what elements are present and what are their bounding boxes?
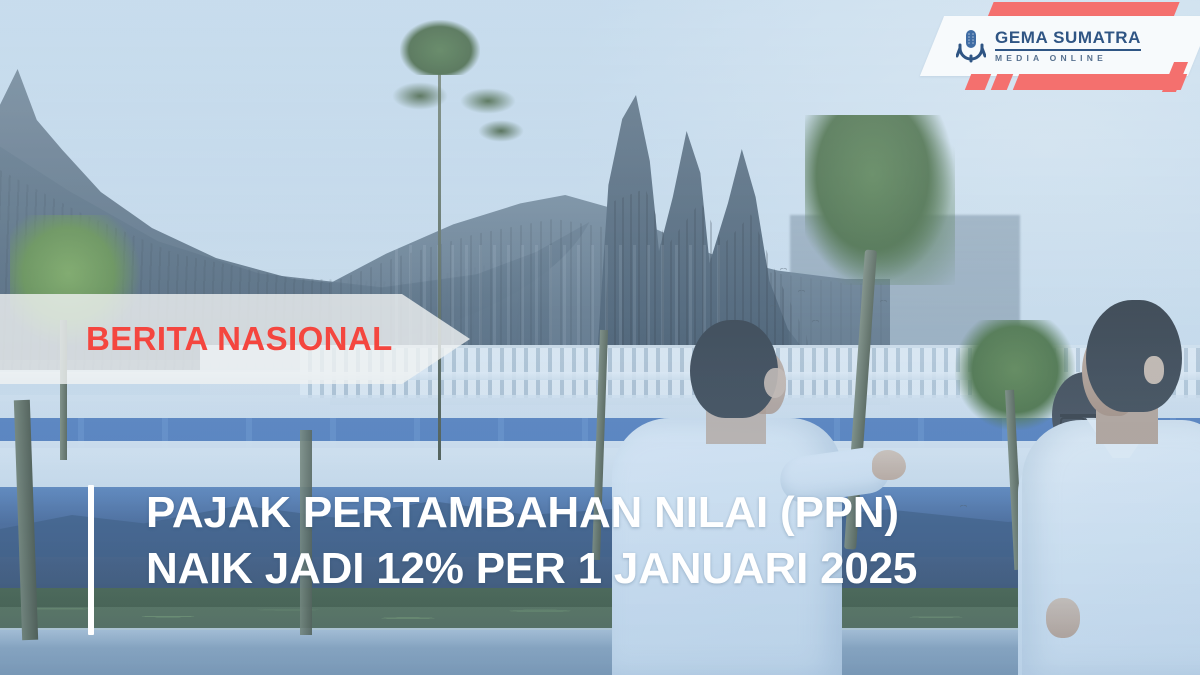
news-thumbnail-card: BERITA NASIONAL PAJAK PERTAMBAHAN NILAI … <box>0 0 1200 675</box>
headline-text-group: PAJAK PERTAMBAHAN NILAI (PPN) NAIK JADI … <box>146 485 917 597</box>
headline-block: PAJAK PERTAMBAHAN NILAI (PPN) NAIK JADI … <box>88 485 917 635</box>
logo-badge[interactable]: GEMA SUMATRA MEDIA ONLINE <box>910 0 1200 108</box>
category-banner: BERITA NASIONAL <box>0 294 470 384</box>
logo-red-square-2 <box>991 74 1013 90</box>
logo-red-square-1 <box>965 74 991 90</box>
logo-content: GEMA SUMATRA MEDIA ONLINE <box>956 20 1196 72</box>
logo-divider <box>995 49 1141 51</box>
headline-line-1: PAJAK PERTAMBAHAN NILAI (PPN) <box>146 485 917 541</box>
headline-line-2: NAIK JADI 12% PER 1 JANUARI 2025 <box>146 541 917 597</box>
logo-subtitle: MEDIA ONLINE <box>995 54 1141 63</box>
headline-accent-bar <box>88 485 94 635</box>
logo-text-column: GEMA SUMATRA MEDIA ONLINE <box>995 29 1141 63</box>
logo-title: GEMA SUMATRA <box>995 29 1141 46</box>
logo-red-bottom-stripe <box>1013 74 1187 90</box>
microphone-icon <box>956 29 986 63</box>
category-label: BERITA NASIONAL <box>86 320 393 358</box>
